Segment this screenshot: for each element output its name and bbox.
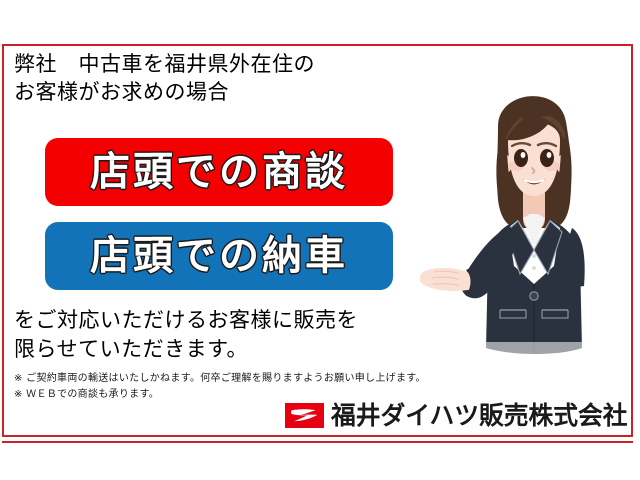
- emphasis-pill-negotiation: 店頭での商談: [45, 138, 393, 206]
- daihatsu-d-logo-icon: [285, 403, 324, 428]
- poster-canvas: 弊社 中古車を福井県外在住の お客様がお求めの場合 店頭での商談 店頭での納車 …: [0, 0, 640, 480]
- company-name-text: 福井ダイハツ販売株式会社: [331, 403, 628, 428]
- disclaimer-notes: ※ ご契約車両の輸送はいたしかねます。何卒ご理解を賜りますようお願い申し上げます…: [14, 371, 426, 403]
- headline-text: 弊社 中古車を福井県外在住の お客様がお求めの場合: [14, 50, 315, 106]
- emphasis-pill-delivery-label: 店頭での納車: [90, 236, 348, 276]
- closing-text: をご対応いただけるお客様に販売を 限らせていただきます。: [14, 306, 358, 364]
- poster-frame-underline: [2, 441, 633, 443]
- emphasis-pill-delivery: 店頭での納車: [45, 222, 393, 290]
- emphasis-pill-negotiation-label: 店頭での商談: [90, 152, 348, 192]
- businesswoman-illustration: [420, 60, 635, 380]
- company-logo: 福井ダイハツ販売株式会社: [285, 400, 631, 430]
